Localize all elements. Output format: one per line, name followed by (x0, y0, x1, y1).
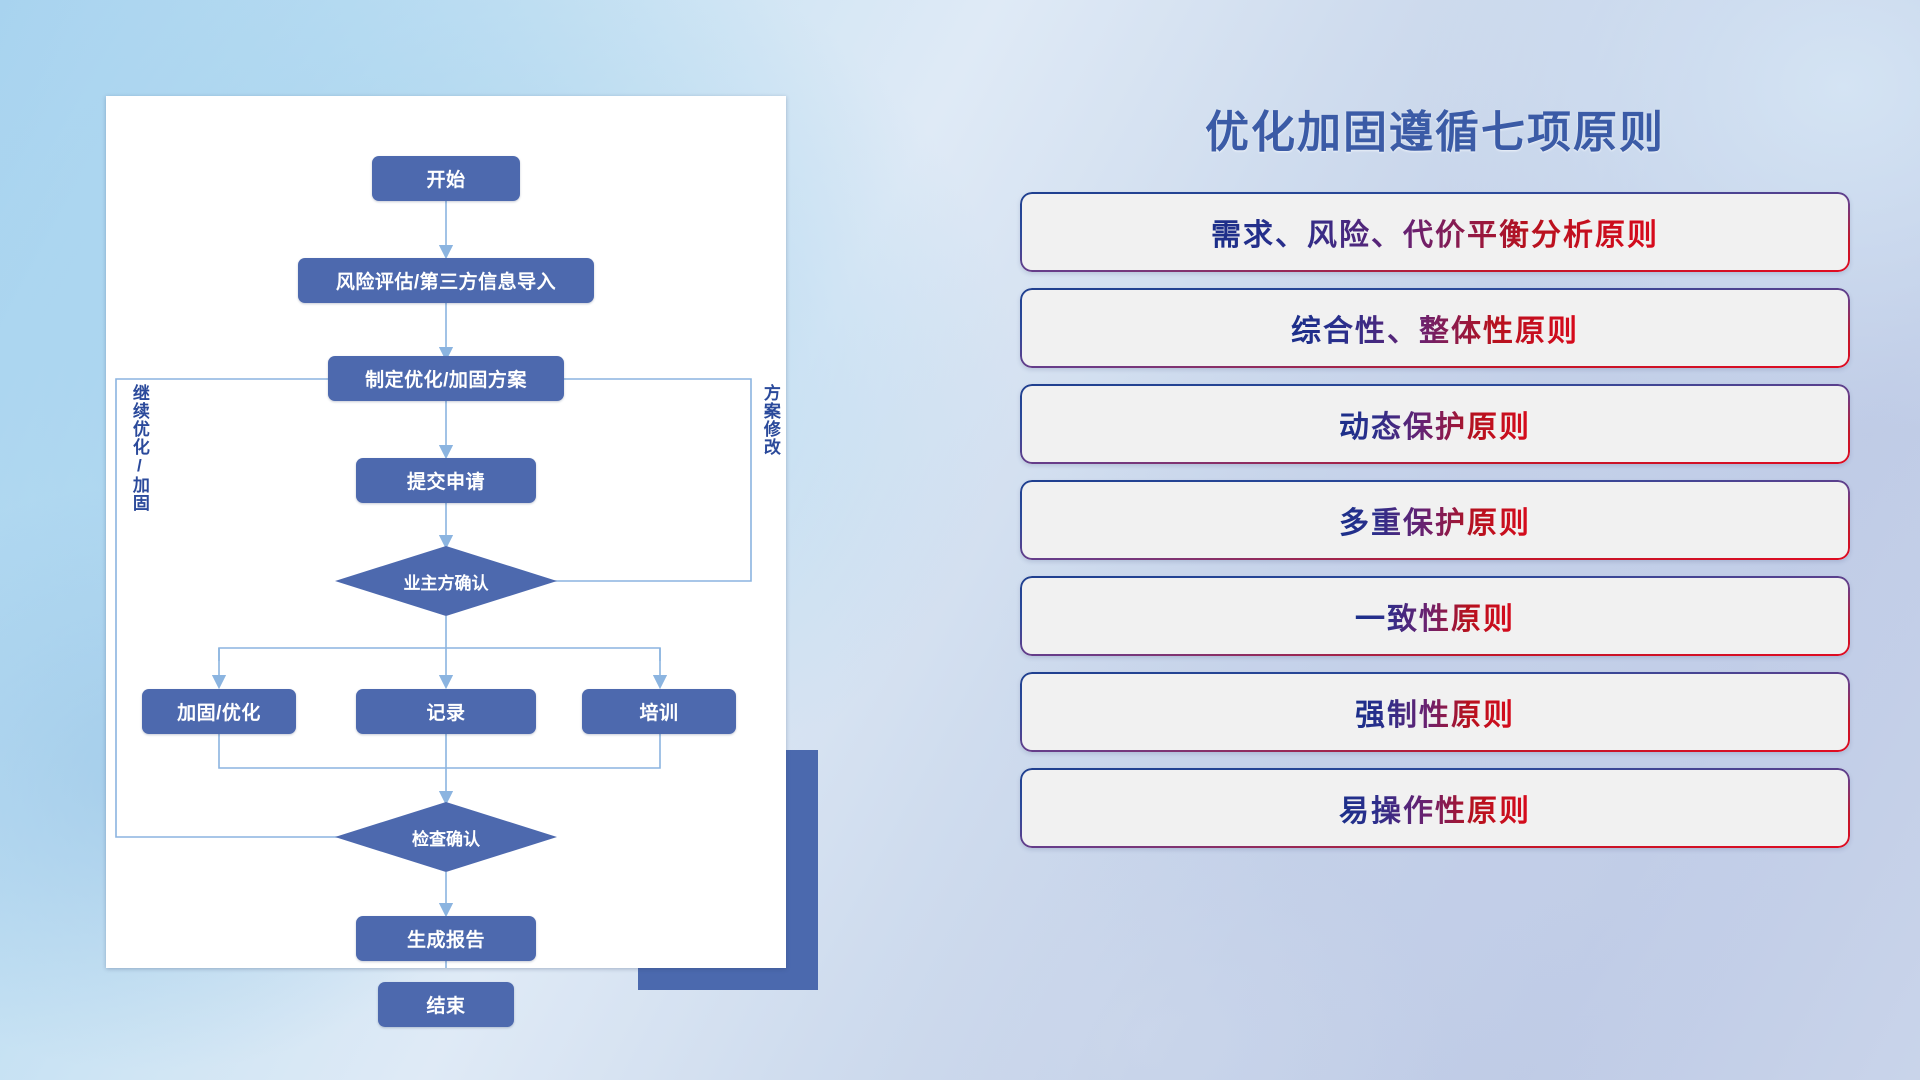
node-generate-report[interactable]: 生成报告 (356, 916, 536, 961)
principle-label-3: 动态保护原则 (1339, 402, 1531, 446)
node-owner-confirm-label: 业主方确认 (404, 569, 489, 594)
slide-canvas: 开始 风险评估/第三方信息导入 制定优化/加固方案 提交申请 业主方确认 加固/… (0, 0, 1920, 1080)
node-start[interactable]: 开始 (372, 156, 520, 201)
edge-label-plan-revision: 方案修改 (761, 384, 779, 456)
principle-label-5: 一致性原则 (1355, 594, 1515, 638)
node-submit-application[interactable]: 提交申请 (356, 458, 536, 503)
node-end[interactable]: 结束 (378, 982, 514, 1027)
node-reinforce-optimize[interactable]: 加固/优化 (142, 689, 296, 734)
node-risk-assessment-label: 风险评估/第三方信息导入 (336, 267, 556, 294)
principle-label-2: 综合性、整体性原则 (1291, 306, 1579, 350)
principle-label-1: 需求、风险、代价平衡分析原则 (1211, 210, 1659, 254)
flowchart-card: 开始 风险评估/第三方信息导入 制定优化/加固方案 提交申请 业主方确认 加固/… (106, 96, 786, 968)
node-record[interactable]: 记录 (356, 689, 536, 734)
principle-card-6[interactable]: 强制性原则 (1020, 672, 1850, 752)
node-make-plan[interactable]: 制定优化/加固方案 (328, 356, 564, 401)
node-make-plan-label: 制定优化/加固方案 (365, 365, 527, 392)
node-risk-assessment[interactable]: 风险评估/第三方信息导入 (298, 258, 594, 303)
principle-label-4: 多重保护原则 (1339, 498, 1531, 542)
principle-card-7[interactable]: 易操作性原则 (1020, 768, 1850, 848)
principles-list: 需求、风险、代价平衡分析原则 综合性、整体性原则 动态保护原则 多重保护原则 一… (1020, 192, 1850, 848)
principle-card-5[interactable]: 一致性原则 (1020, 576, 1850, 656)
panel-title: 优化加固遵循七项原则 (1020, 96, 1850, 160)
principle-card-3[interactable]: 动态保护原则 (1020, 384, 1850, 464)
principles-panel: 优化加固遵循七项原则 需求、风险、代价平衡分析原则 综合性、整体性原则 动态保护… (1020, 96, 1850, 996)
node-generate-report-label: 生成报告 (407, 925, 485, 952)
principle-label-6: 强制性原则 (1355, 690, 1515, 734)
edge-label-continue-optimize: 继续优化/加固 (130, 384, 148, 512)
node-reinforce-optimize-label: 加固/优化 (177, 698, 261, 725)
principle-label-7: 易操作性原则 (1339, 786, 1531, 830)
node-training[interactable]: 培训 (582, 689, 736, 734)
principle-card-1[interactable]: 需求、风险、代价平衡分析原则 (1020, 192, 1850, 272)
principle-card-4[interactable]: 多重保护原则 (1020, 480, 1850, 560)
principle-card-2[interactable]: 综合性、整体性原则 (1020, 288, 1850, 368)
node-training-label: 培训 (639, 698, 678, 725)
node-check-confirm-label: 检查确认 (412, 825, 480, 850)
node-submit-application-label: 提交申请 (407, 467, 485, 494)
node-record-label: 记录 (426, 698, 465, 725)
node-start-label: 开始 (426, 165, 465, 192)
node-end-label: 结束 (426, 991, 465, 1018)
